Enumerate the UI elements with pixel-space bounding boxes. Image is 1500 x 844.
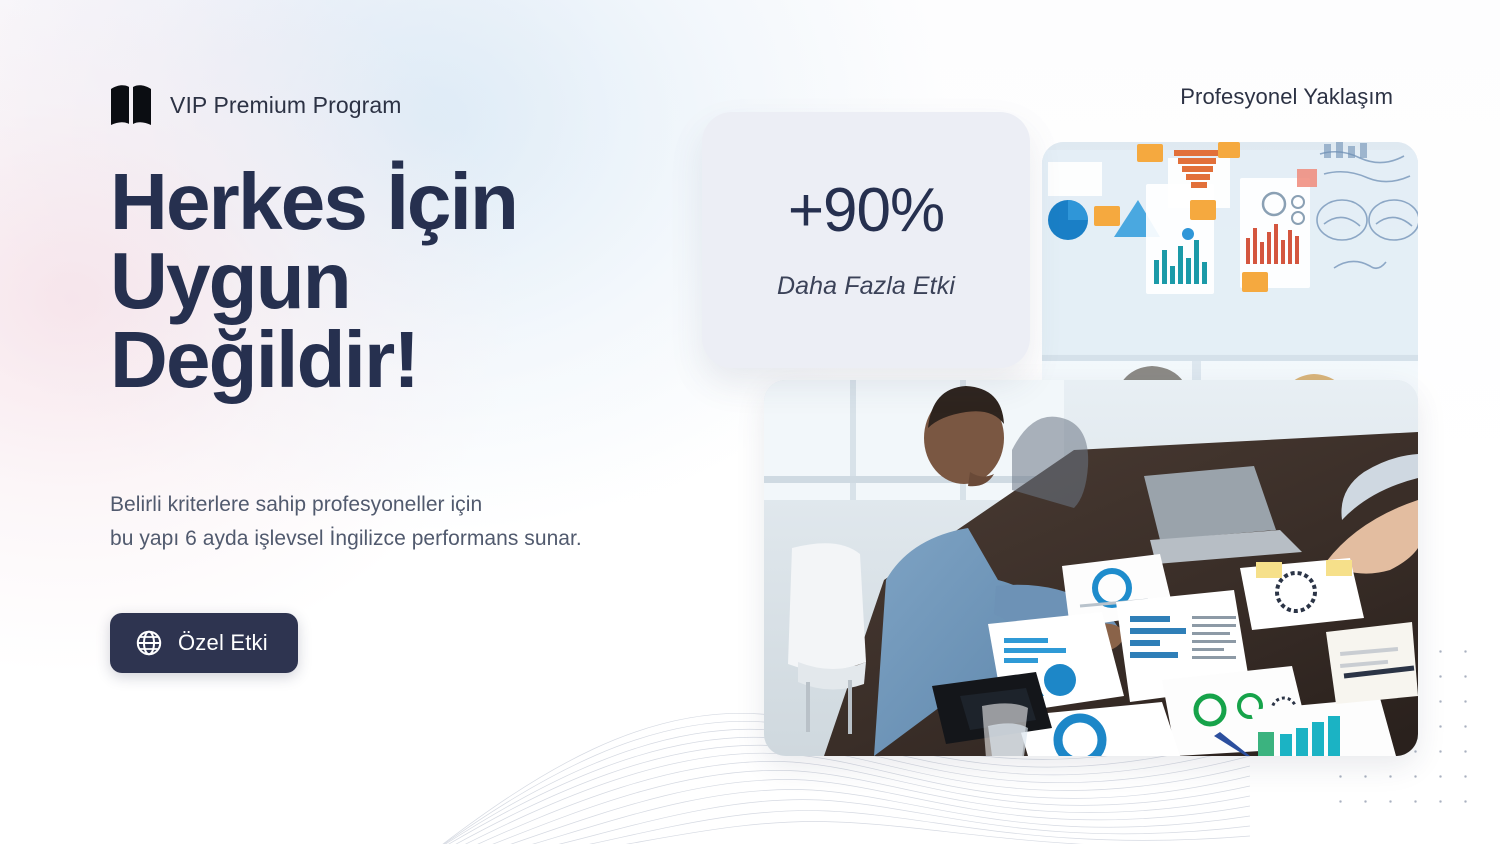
slide-root: VIP Premium Program Herkes İçin Uygun De… <box>0 0 1500 844</box>
brand-row: VIP Premium Program <box>110 82 730 128</box>
globe-icon <box>136 630 162 656</box>
headline-line-3: Değildir! <box>110 315 418 404</box>
body-line-1: Belirli kriterlere sahip profesyoneller … <box>110 488 730 522</box>
right-eyebrow-label: Profesyonel Yaklaşım <box>1180 84 1393 110</box>
team-reviewing-reports-photo <box>764 380 1418 756</box>
brand-label: VIP Premium Program <box>170 92 402 119</box>
body-copy: Belirli kriterlere sahip profesyoneller … <box>110 488 730 556</box>
open-book-icon <box>110 83 152 127</box>
stat-card: +90% Daha Fazla Etki <box>702 112 1030 368</box>
stat-label: Daha Fazla Etki <box>777 272 955 301</box>
left-content-column: VIP Premium Program Herkes İçin Uygun De… <box>110 82 730 673</box>
ozel-etki-button-label: Özel Etki <box>178 630 268 656</box>
page-title: Herkes İçin Uygun Değildir! <box>110 162 580 400</box>
headline-line-1: Herkes İçin <box>110 157 517 246</box>
body-line-2: bu yapı 6 ayda işlevsel İngilizce perfor… <box>110 522 730 556</box>
stat-value: +90% <box>788 180 944 242</box>
ozel-etki-button[interactable]: Özel Etki <box>110 613 298 673</box>
headline-line-2: Uygun <box>110 236 350 325</box>
